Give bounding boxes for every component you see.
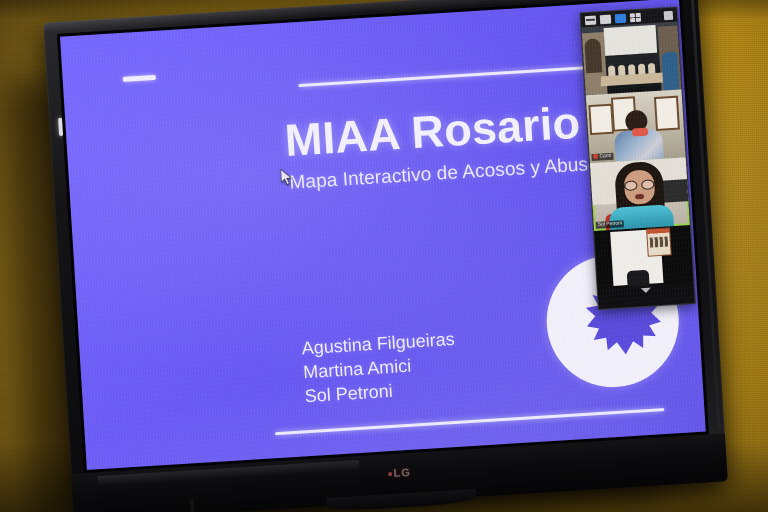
glasses-icon — [624, 179, 654, 189]
tile3-dark-object — [661, 179, 688, 203]
television: MIAA Rosario Mapa Interactivo de Acosos … — [43, 0, 728, 512]
slide-bottom-rule — [275, 408, 664, 435]
tile1-screen-panel — [604, 25, 658, 56]
tile2-picture-frame — [654, 96, 680, 131]
tile1-foreground-person — [661, 52, 679, 91]
tile1-arch — [584, 38, 602, 73]
expand-icon[interactable] — [664, 10, 674, 20]
tile4-chair — [627, 270, 650, 287]
toolbar-spacer — [645, 16, 660, 17]
participant-tile[interactable] — [594, 225, 694, 299]
chevron-down-icon[interactable] — [641, 288, 651, 294]
tv-screen: MIAA Rosario Mapa Interactivo de Acosos … — [60, 0, 706, 470]
tile4-poster — [646, 227, 672, 256]
muted-mic-icon — [593, 154, 597, 159]
participant-name-text: Cami — [599, 153, 611, 160]
tile2-person-scarf — [632, 128, 648, 137]
participant-tile-active-speaker[interactable]: Sol Petroni — [590, 157, 690, 231]
power-cable — [190, 498, 194, 512]
participant-tile[interactable]: Cami — [586, 89, 686, 163]
tile3-person-mouth — [635, 194, 644, 200]
speaker-view-icon[interactable] — [600, 14, 612, 24]
lg-brand-text: LG — [393, 467, 411, 480]
gallery-view-icon[interactable] — [615, 13, 627, 23]
video-call-panel[interactable]: Cami Sol Petroni — [580, 6, 696, 309]
minimize-icon[interactable] — [585, 15, 597, 25]
layout-icon[interactable] — [630, 12, 642, 22]
lg-logo-dot — [388, 472, 392, 476]
participant-name-label: Cami — [591, 153, 613, 161]
lg-brand-logo: LG — [387, 467, 411, 480]
participant-tile[interactable] — [581, 21, 681, 95]
photo-scene: MIAA Rosario Mapa Interactivo de Acosos … — [0, 0, 768, 512]
tv-screen-frame: MIAA Rosario Mapa Interactivo de Acosos … — [57, 0, 709, 473]
tile2-picture-frame — [588, 104, 614, 135]
author-list: Agustina Filgueiras Martina Amici Sol Pe… — [301, 328, 458, 409]
presentation-slide: MIAA Rosario Mapa Interactivo de Acosos … — [60, 0, 706, 470]
slide-tick-mark — [123, 75, 156, 82]
